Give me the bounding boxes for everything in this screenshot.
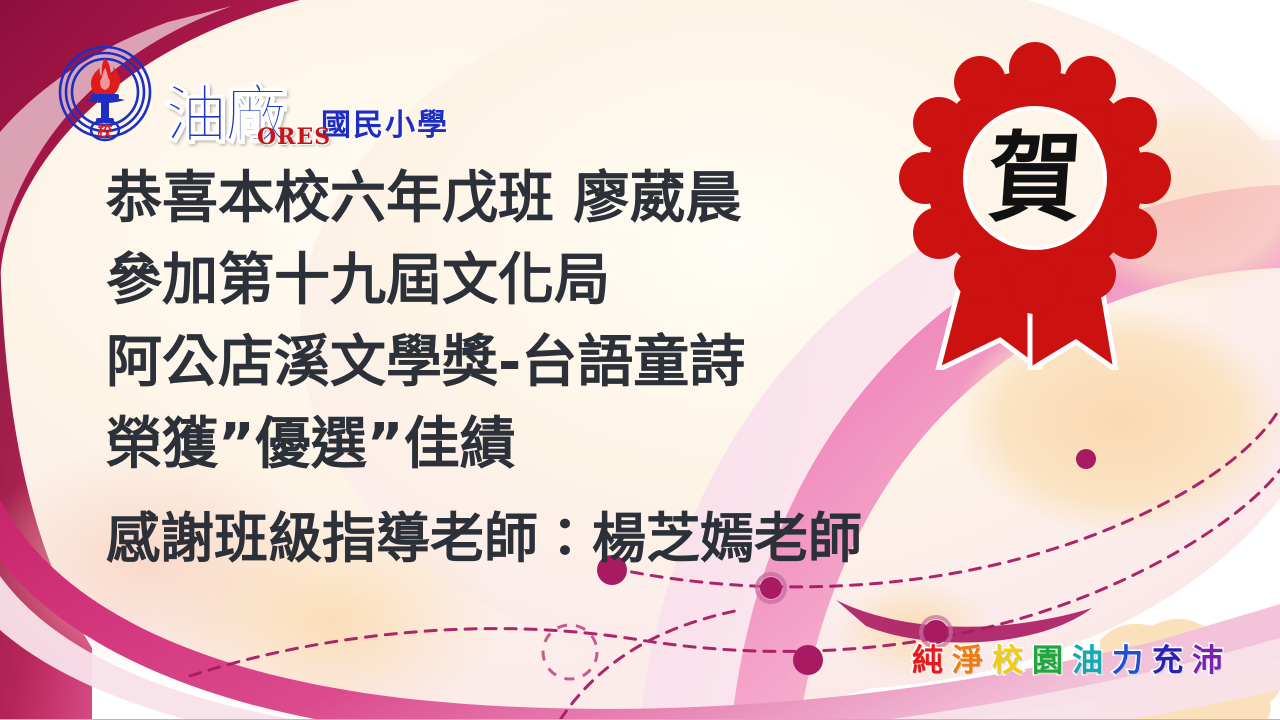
slogan-char-1: 純: [912, 646, 943, 677]
slogan-char-8: 沛: [1192, 646, 1223, 677]
school-torch-emblem-icon: 校: [55, 42, 155, 147]
slogan-char-7: 充: [1152, 646, 1183, 677]
headline-line-4: 榮獲”優選”佳績: [106, 404, 966, 486]
slogan-char-4: 園: [1032, 646, 1063, 677]
slogan-char-3: 校: [992, 646, 1023, 677]
logo-wordmark: 油廠 ORES: [165, 85, 289, 145]
school-logo: 校 油廠 ORES 國民小學: [55, 42, 449, 147]
logo-wordmark-latin: ORES: [257, 124, 331, 150]
logo-subtitle: 國民小學: [321, 111, 449, 141]
headline-line-1: 恭喜本校六年戊班 廖葳晨: [106, 158, 966, 240]
headline-block: 恭喜本校六年戊班 廖葳晨 參加第十九屆文化局 阿公店溪文學獎-台語童詩 榮獲”優…: [106, 158, 966, 486]
headline-line-3: 阿公店溪文學獎-台語童詩: [106, 322, 966, 404]
school-slogan: 純淨校園油力充沛: [912, 646, 1223, 677]
headline-line-2: 參加第十九屆文化局: [106, 240, 966, 322]
svg-text:校: 校: [97, 122, 113, 140]
teacher-credit-line: 感謝班級指導老師：楊芝嫣老師: [106, 503, 862, 575]
slogan-char-6: 力: [1112, 646, 1143, 677]
slide-canvas: 校 油廠 ORES 國民小學: [0, 0, 1280, 720]
slogan-char-5: 油: [1072, 646, 1103, 677]
slogan-char-2: 淨: [952, 646, 983, 677]
